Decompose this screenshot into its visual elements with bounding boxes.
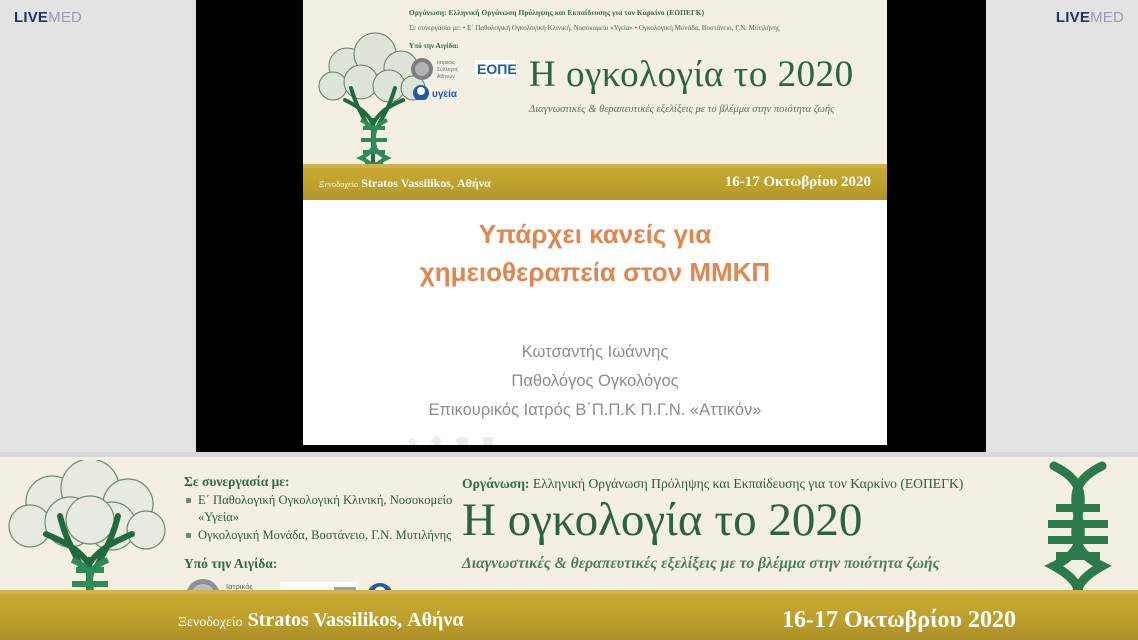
banner-subtitle: Διαγνωστικές & θεραπευτικές εξελίξεις με… [462,555,940,573]
banner-date: 16-17 Οκτωβρίου 2020 [782,607,1016,634]
slide-banner-date: 16-17 Οκτωβρίου 2020 [725,174,871,191]
livemed-webcast-page: LIVEMED LIVEMED [0,0,1138,640]
livemed-logo-left-light: MED [48,9,82,26]
slide-title-line1: Υπάρχει κανείς για [303,216,887,254]
banner-organizer: Οργάνωση: Ελληνική Οργάνωση Πρόληψης και… [462,476,963,492]
slide-banner-subtitle: Διαγνωστικές & θεραπευτικές εξελίξεις με… [529,104,881,115]
livemed-logo-right-light: MED [1090,9,1124,26]
event-banner: Σε συνεργασία με: Ε΄ Παθολογική Ογκολογι… [0,452,1138,640]
banner-cooperation-heading: Σε συνεργασία με: [184,474,290,490]
slide-banner-organizer: Οργάνωση: Ελληνική Οργάνωση Πρόληψης και… [409,8,879,17]
slide-controls[interactable] [407,433,527,445]
svg-text:Αθηνών: Αθηνών [437,73,455,80]
slide-author-name: Κωτσαντής Ιωάννης [303,338,887,367]
video-viewer: LIVEMED LIVEMED [0,0,1138,452]
banner-organizer-label: Οργάνωση: [462,476,529,491]
list-item: Ογκολογική Μονάδα, Βοστάνειο, Γ.Ν. Μυτιλ… [184,527,464,544]
livemed-logo-left-strong: LIVE [14,9,48,26]
slide-author-role: Παθολόγος Ογκολόγος [303,367,887,396]
prev-next-icon[interactable] [407,438,418,445]
banner-venue-prefix: Ξενοδοχείο [178,615,243,630]
slide-author-affiliation: Επικουρικός Ιατρός Β΄Π.Π.Κ Π.Γ.Ν. «Αττικ… [303,396,887,425]
svg-text:Σύλλογος: Σύλλογος [437,66,459,73]
slide-header-banner: Οργάνωση: Ελληνική Οργάνωση Πρόληψης και… [303,0,887,200]
livemed-logo-right[interactable]: LIVEMED [1056,10,1124,25]
slide-banner-venue-prefix: Ξενοδοχείο [319,179,358,189]
livemed-logo-right-strong: LIVE [1056,9,1090,26]
banner-aegis-label: Υπό την Αιγίδα: [184,556,277,572]
svg-text:Ιατρικός: Ιατρικός [437,59,455,66]
slide-banner-logos: ΙατρικόςΣύλλογοςΑθηνών ΕΟΠΕ υγεία [409,56,539,105]
slide-author-block: Κωτσαντής Ιωάννης Παθολόγος Ογκολόγος Επ… [303,338,887,425]
slide-banner-logo-row: ΙατρικόςΣύλλογοςΑθηνών ΕΟΠΕ υγεία [409,56,533,100]
pill-icon[interactable] [456,437,469,445]
banner-organizer-text: Ελληνική Οργάνωση Πρόληψης και Εκπαίδευσ… [529,476,963,491]
slide-banner-aegis-label: Υπό την Αιγίδα: [409,42,459,50]
svg-text:ΕΟΠΕ: ΕΟΠΕ [477,61,517,77]
slide-banner-venue: Ξενοδοχείο Stratos Vassilikos, Αθήνα [319,176,491,191]
banner-cooperation-item-0: Ε΄ Παθολογική Ογκολογική Κλινική, Νοσοκο… [198,493,452,524]
banner-venue-name: Stratos Vassilikos, Αθήνα [248,609,464,631]
slide-banner-title: Η ογκολογία το 2020 [529,56,881,93]
livemed-logo-left[interactable]: LIVEMED [14,10,82,25]
banner-title: Η ογκολογία το 2020 [462,496,862,545]
presentation-slide: Οργάνωση: Ελληνική Οργάνωση Πρόληψης και… [303,0,887,445]
slide-banner-cooperation: Σε συνεργασία με: • Ε΄ Παθολογική Ογκολο… [409,24,879,32]
pen-icon[interactable] [431,435,444,445]
banner-venue: Ξενοδοχείο Stratos Vassilikos, Αθήνα [178,609,464,632]
video-stage[interactable]: Οργάνωση: Ελληνική Οργάνωση Πρόληψης και… [196,0,986,452]
banner-cooperation-item-1: Ογκολογική Μονάδα, Βοστάνειο, Γ.Ν. Μυτιλ… [198,528,451,542]
slide-title: Υπάρχει κανείς για χημειοθεραπεία στον Μ… [303,216,887,291]
slide-banner-venue-name: Stratos Vassilikos, Αθήνα [361,176,491,190]
banner-cooperation-list: Ε΄ Παθολογική Ογκολογική Κλινική, Νοσοκο… [184,492,464,545]
list-item: Ε΄ Παθολογική Ογκολογική Κλινική, Νοσοκο… [184,492,464,526]
svg-text:υγεία: υγεία [432,89,458,100]
menu-icon[interactable] [483,437,493,445]
slide-title-line2: χημειοθεραπεία στον ΜΜΚΠ [303,254,887,292]
banner-top-divider [0,452,1138,457]
